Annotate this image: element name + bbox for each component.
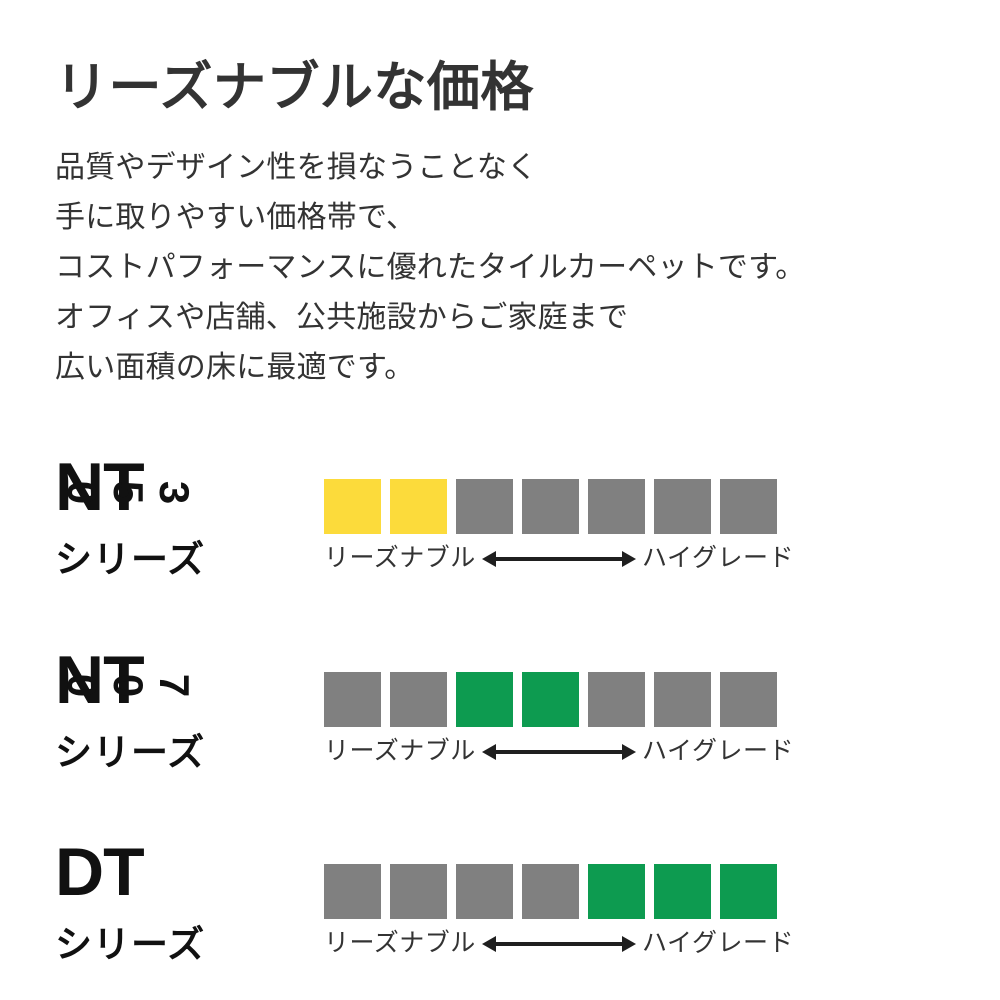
swatch-yellow — [390, 479, 447, 534]
swatch-gray — [324, 672, 381, 727]
double-arrow-horizontal-icon — [482, 741, 636, 763]
grade-scale-nt700: リーズナブル ハイグレード — [324, 672, 794, 764]
swatch-strip — [324, 479, 794, 534]
series-name-line: NT 700 — [55, 648, 305, 720]
swatch-gray — [654, 479, 711, 534]
swatch-green — [588, 864, 645, 919]
series-label-nt700: NT 700 シリーズ — [55, 648, 305, 771]
body-line: 品質やデザイン性を損なうことなく — [55, 143, 955, 193]
legend-high-label: ハイグレード — [642, 931, 794, 956]
swatch-gray — [390, 864, 447, 919]
legend-high-label: ハイグレード — [642, 739, 794, 764]
double-arrow-horizontal-icon — [482, 548, 636, 570]
swatch-gray — [720, 479, 777, 534]
swatch-gray — [588, 479, 645, 534]
infographic-page: リーズナブルな価格 品質やデザイン性を損なうことなく 手に取りやすい価格帯で、 … — [0, 0, 1000, 1000]
body-line: コストパフォーマンスに優れたタイルカーペットです。 — [55, 243, 955, 293]
series-sub-label: シリーズ — [55, 541, 305, 578]
swatch-green — [522, 672, 579, 727]
series-label-dt: DT シリーズ — [55, 840, 305, 963]
body-copy: 品質やデザイン性を損なうことなく 手に取りやすい価格帯で、 コストパフォーマンス… — [55, 143, 955, 393]
body-line: 手に取りやすい価格帯で、 — [55, 193, 955, 243]
swatch-gray — [522, 864, 579, 919]
swatch-yellow — [324, 479, 381, 534]
legend-low-label: リーズナブル — [324, 739, 476, 764]
series-row-nt700: NT 700 シリーズ リーズナブル — [0, 648, 1000, 798]
swatch-gray — [456, 479, 513, 534]
scale-legend: リーズナブル ハイグレード — [324, 739, 794, 764]
series-row-nt350: NT 350 シリーズ リーズナブル — [0, 455, 1000, 605]
series-name-line: NT 350 — [55, 455, 305, 527]
swatch-gray — [324, 864, 381, 919]
swatch-strip — [324, 864, 794, 919]
series-number-rotated: 700 — [128, 664, 198, 706]
legend-high-label: ハイグレード — [642, 546, 794, 571]
heading-block: リーズナブルな価格 品質やデザイン性を損なうことなく 手に取りやすい価格帯で、 … — [55, 58, 955, 393]
series-code: DT — [55, 840, 144, 905]
series-name-line: DT — [55, 840, 305, 912]
body-line: オフィスや店舗、公共施設からご家庭まで — [55, 293, 955, 343]
series-sub-label: シリーズ — [55, 734, 305, 771]
series-label-nt350: NT 350 シリーズ — [55, 455, 305, 578]
swatch-gray — [522, 479, 579, 534]
swatch-green — [720, 864, 777, 919]
scale-legend: リーズナブル ハイグレード — [324, 931, 794, 956]
swatch-strip — [324, 672, 794, 727]
legend-low-label: リーズナブル — [324, 546, 476, 571]
swatch-gray — [588, 672, 645, 727]
legend-low-label: リーズナブル — [324, 931, 476, 956]
swatch-gray — [456, 864, 513, 919]
grade-scale-dt: リーズナブル ハイグレード — [324, 864, 794, 956]
body-line: 広い面積の床に最適です。 — [55, 343, 955, 393]
scale-legend: リーズナブル ハイグレード — [324, 546, 794, 571]
swatch-green — [654, 864, 711, 919]
swatch-gray — [654, 672, 711, 727]
series-number-rotated: 350 — [128, 471, 198, 513]
swatch-gray — [390, 672, 447, 727]
series-row-dt: DT シリーズ リーズナブル ハ — [0, 840, 1000, 990]
swatch-gray — [720, 672, 777, 727]
double-arrow-horizontal-icon — [482, 933, 636, 955]
series-sub-label: シリーズ — [55, 926, 305, 963]
grade-scale-nt350: リーズナブル ハイグレード — [324, 479, 794, 571]
page-title: リーズナブルな価格 — [55, 58, 955, 117]
swatch-green — [456, 672, 513, 727]
